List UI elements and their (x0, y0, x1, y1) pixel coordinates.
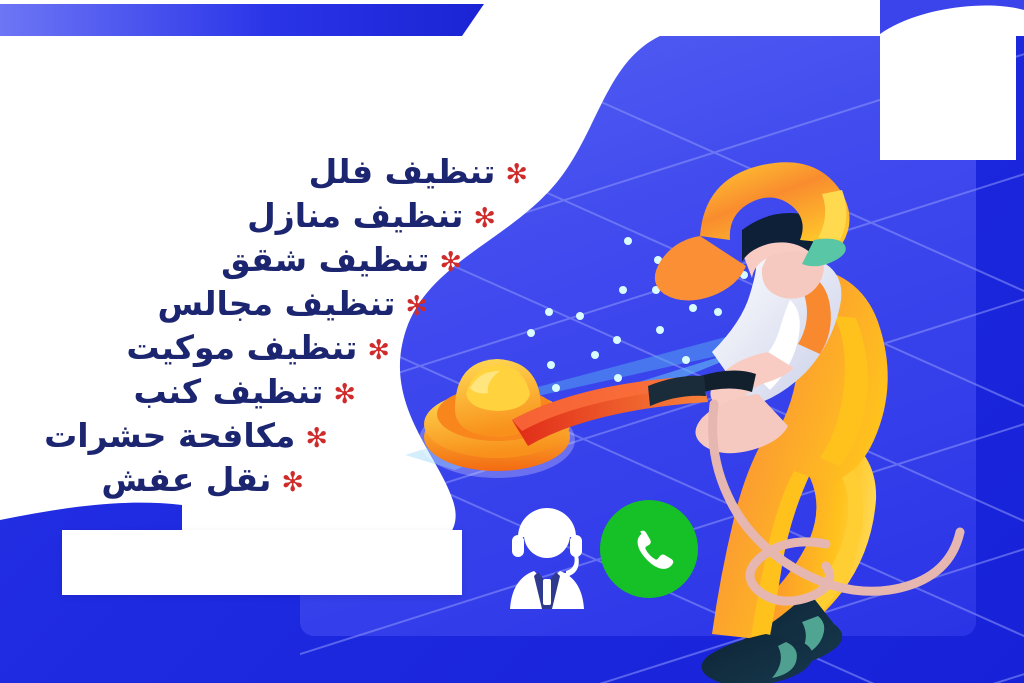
bullet-star-icon: ✻ (439, 249, 462, 276)
bullet-star-icon: ✻ (473, 205, 496, 232)
list-item: ✻ تنظيف فلل (0, 150, 528, 194)
service-label: تنظيف موكيت (126, 326, 357, 370)
list-item: ✻ تنظيف موكيت (0, 326, 528, 370)
poster-canvas: ✻ تنظيف فلل ✻ تنظيف منازل ✻ تنظيف شقق ✻ … (0, 0, 1024, 683)
bullet-star-icon: ✻ (333, 381, 356, 408)
service-label: تنظيف مجالس (157, 282, 395, 326)
list-item: ✻ تنظيف كنب (0, 370, 528, 414)
list-item: ✻ تنظيف شقق (0, 238, 528, 282)
bullet-star-icon: ✻ (505, 161, 528, 188)
service-label: تنظيف شقق (221, 238, 429, 282)
list-item: ✻ نقل عفش (0, 458, 528, 502)
phone-call-button[interactable] (600, 500, 698, 598)
services-list: ✻ تنظيف فلل ✻ تنظيف منازل ✻ تنظيف شقق ✻ … (0, 150, 528, 502)
top-banner (0, 0, 1024, 44)
bullet-star-icon: ✻ (281, 469, 304, 496)
service-label: تنظيف فلل (309, 150, 496, 194)
service-label: تنظيف كنب (134, 370, 324, 414)
bullet-star-icon: ✻ (405, 293, 428, 320)
list-item: ✻ مكافحة حشرات (0, 414, 528, 458)
list-item: ✻ تنظيف مجالس (0, 282, 528, 326)
list-item: ✻ تنظيف منازل (0, 194, 528, 238)
support-agent-icon[interactable] (492, 497, 602, 609)
bullet-star-icon: ✻ (367, 337, 390, 364)
phone-handset-icon (621, 521, 677, 577)
service-label: مكافحة حشرات (44, 414, 295, 458)
white-overlay-block-bottom (62, 530, 462, 595)
service-label: تنظيف منازل (247, 194, 463, 238)
service-label: نقل عفش (101, 458, 271, 502)
bullet-star-icon: ✻ (305, 425, 328, 452)
